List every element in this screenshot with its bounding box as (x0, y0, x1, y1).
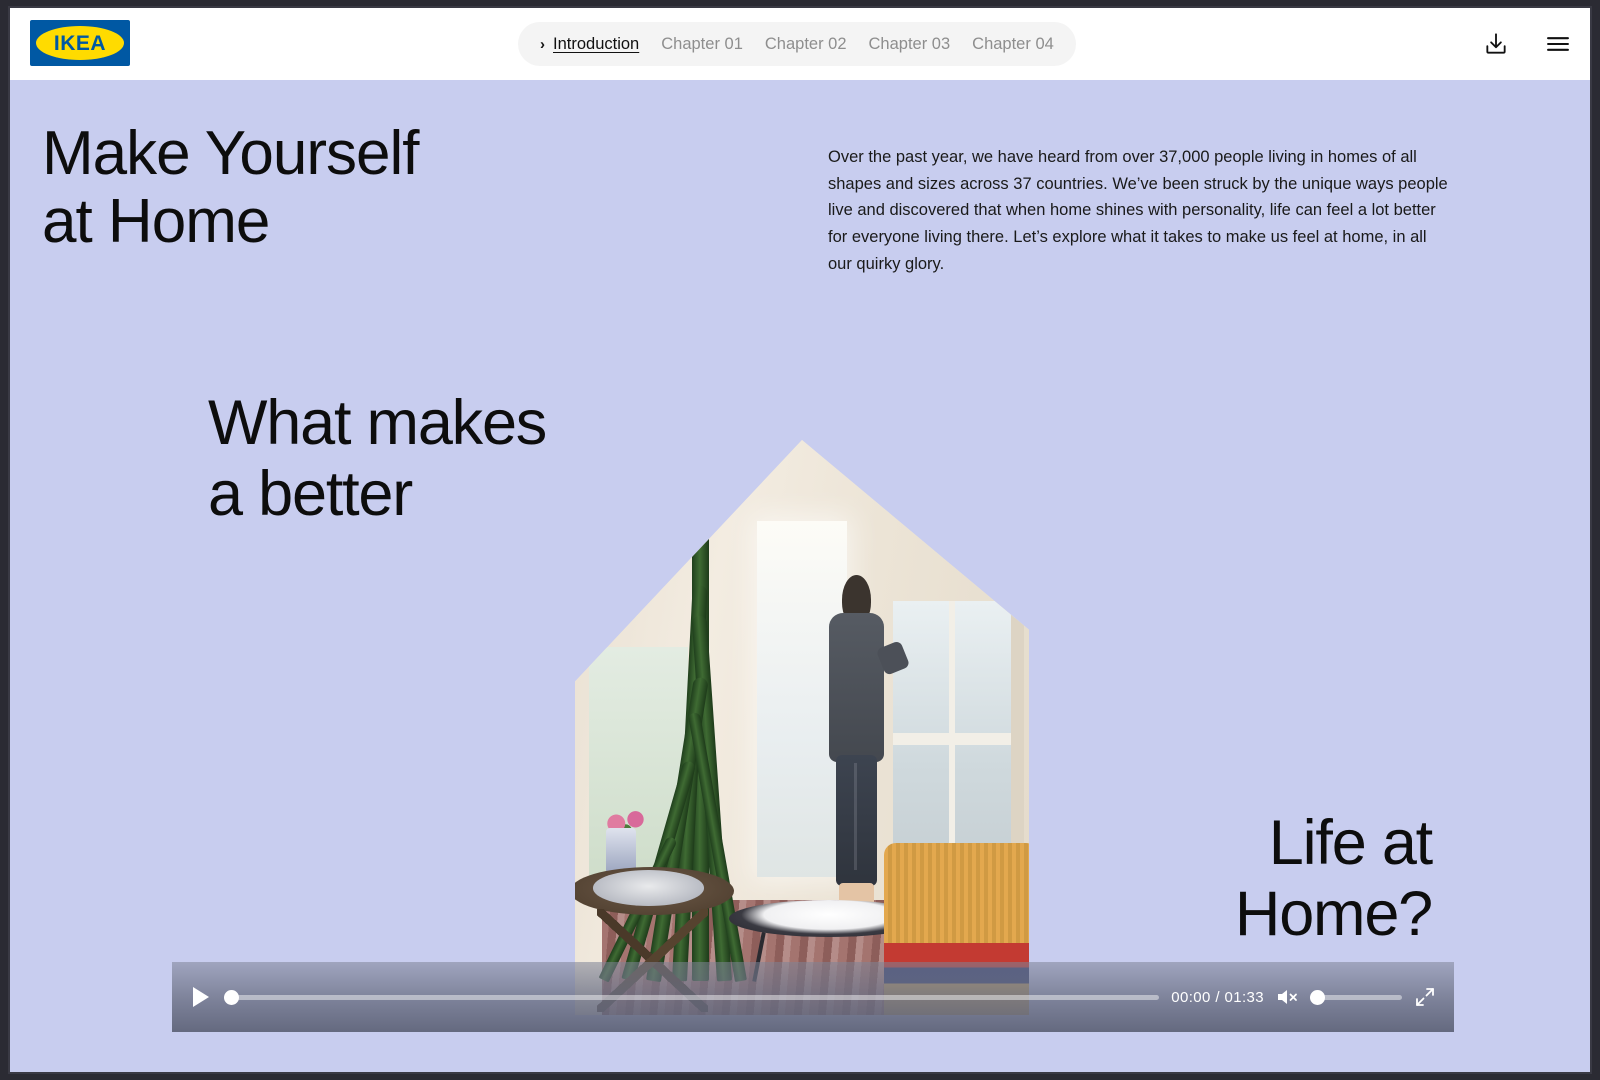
header-actions (1482, 8, 1572, 80)
play-icon[interactable] (190, 985, 212, 1009)
nav-item-chapter-03[interactable]: Chapter 03 (869, 35, 951, 54)
video-controls: 00:00 / 01:33 (172, 962, 1454, 1032)
stage-headline-left: What makes a better (208, 388, 546, 529)
logo-oval: IKEA (36, 26, 124, 60)
chevron-right-icon: › (540, 37, 545, 52)
volume-slider[interactable] (1310, 989, 1402, 1005)
nav-item-chapter-04[interactable]: Chapter 04 (972, 35, 1054, 54)
person-torso (829, 613, 884, 762)
armchair-back (884, 843, 1029, 950)
volume-handle[interactable] (1310, 990, 1325, 1005)
page-title: Make Yourself at Home (42, 120, 418, 256)
logo-text: IKEA (54, 33, 106, 54)
video-still-background (575, 440, 1029, 1015)
hero-paragraph: Over the past year, we have heard from o… (828, 144, 1448, 278)
plate (593, 870, 704, 905)
video-stage[interactable]: What makes a better Life at Home? (172, 320, 1454, 1032)
fullscreen-icon[interactable] (1414, 986, 1436, 1008)
time-display: 00:00 / 01:33 (1171, 989, 1264, 1006)
chapter-nav: › Introduction Chapter 01 Chapter 02 Cha… (518, 22, 1076, 66)
nav-item-chapter-02[interactable]: Chapter 02 (765, 35, 847, 54)
stage-headline-right: Life at Home? (1235, 808, 1432, 949)
nav-item-introduction[interactable]: Introduction (553, 35, 639, 54)
person-on-trampoline (820, 613, 893, 924)
mute-icon[interactable] (1276, 987, 1298, 1007)
download-icon[interactable] (1482, 30, 1510, 58)
house-masked-video[interactable] (575, 440, 1029, 1015)
progress-handle[interactable] (224, 990, 239, 1005)
site-header: IKEA › Introduction Chapter 01 Chapter 0… (10, 8, 1590, 80)
browser-frame: IKEA › Introduction Chapter 01 Chapter 0… (8, 6, 1592, 1074)
ikea-logo[interactable]: IKEA (30, 20, 130, 66)
menu-icon[interactable] (1544, 30, 1572, 58)
person-legs (836, 755, 877, 885)
progress-slider[interactable] (224, 989, 1159, 1005)
progress-track (224, 995, 1159, 1000)
nav-item-chapter-01[interactable]: Chapter 01 (661, 35, 743, 54)
